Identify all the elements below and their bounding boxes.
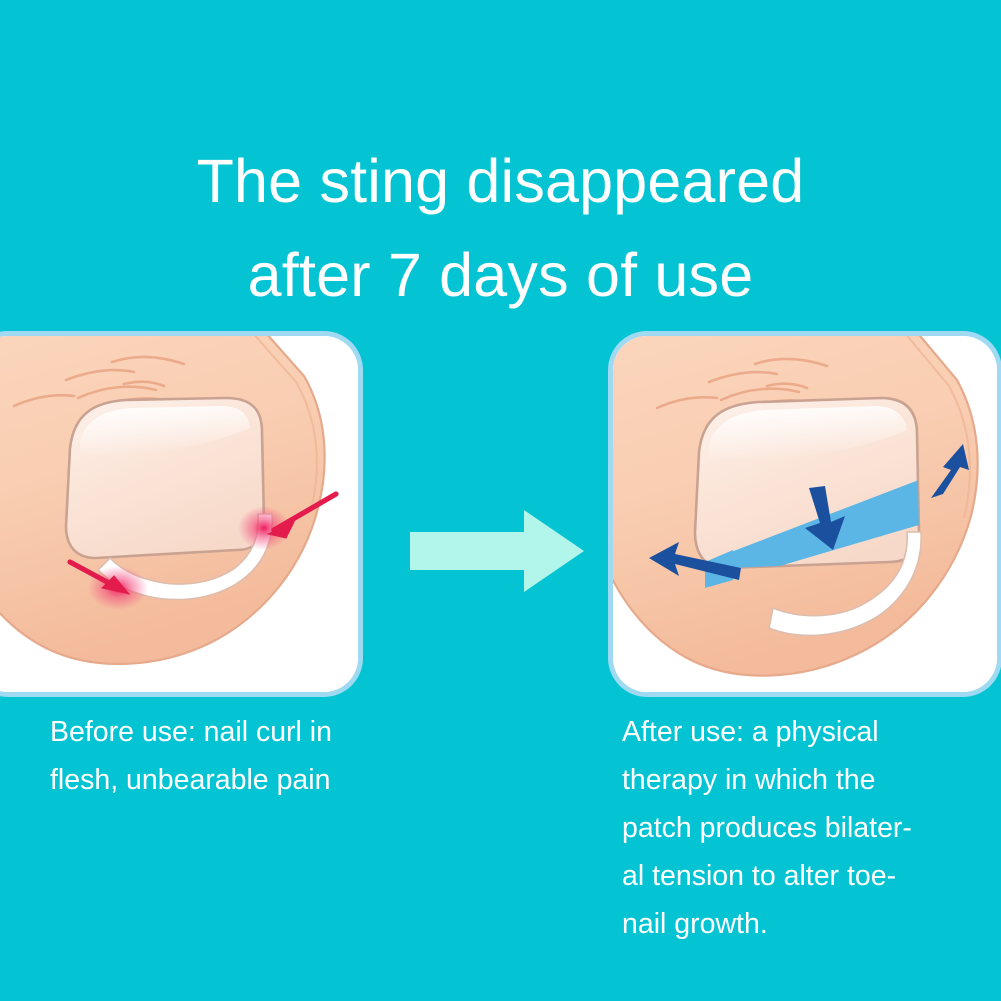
before-panel <box>0 336 358 692</box>
before-caption-line-1: Before use: nail curl in <box>50 708 410 756</box>
after-caption-line-3: patch produces bilater- <box>622 804 992 852</box>
page-title: The sting disappeared after 7 days of us… <box>0 134 1001 322</box>
ingrown-toenail-illustration <box>0 336 358 692</box>
after-caption-line-5: nail growth. <box>622 900 992 948</box>
toenail-plate <box>66 398 264 558</box>
after-caption: After use: a physical therapy in which t… <box>622 708 992 948</box>
after-caption-line-4: al tension to alter toe- <box>622 852 992 900</box>
toenail-with-correction-patch-illustration <box>613 336 997 692</box>
poster-root: The sting disappeared after 7 days of us… <box>0 0 1001 1001</box>
before-caption: Before use: nail curl in flesh, unbearab… <box>50 708 410 804</box>
page-title-line-1: The sting disappeared <box>0 134 1001 228</box>
after-caption-line-2: therapy in which the <box>622 756 992 804</box>
before-caption-line-2: flesh, unbearable pain <box>50 756 410 804</box>
page-title-line-2: after 7 days of use <box>0 228 1001 322</box>
after-panel <box>613 336 997 692</box>
transition-arrow <box>408 508 586 594</box>
after-caption-line-1: After use: a physical <box>622 708 992 756</box>
